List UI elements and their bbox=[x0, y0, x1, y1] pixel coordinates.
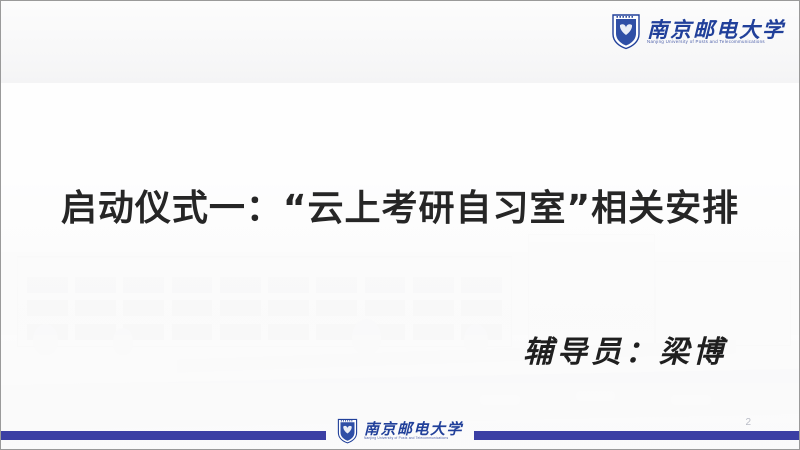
university-name-cn: 南京邮电大学 bbox=[364, 422, 463, 437]
shield-crest-icon bbox=[337, 418, 358, 444]
university-name-en: Nanjing University of Posts and Telecomm… bbox=[364, 437, 458, 440]
title-block: 启动仪式一：“云上考研自习室”相关安排 bbox=[1, 179, 799, 231]
presenter-block: 辅导员：梁博 bbox=[523, 327, 727, 371]
presenter-name: 辅导员：梁博 bbox=[523, 327, 727, 371]
university-logo-header: 南京邮电大学 Nanjing University of Posts and T… bbox=[611, 13, 785, 50]
footer-bar-left bbox=[1, 431, 326, 440]
shield-crest-icon bbox=[611, 13, 641, 50]
page-number: 2 bbox=[745, 417, 751, 428]
university-logo-footer: 南京邮电大学 Nanjing University of Posts and T… bbox=[337, 418, 463, 444]
university-logo-wordmark: 南京邮电大学 Nanjing University of Posts and T… bbox=[647, 19, 785, 45]
slide-title: 启动仪式一：“云上考研自习室”相关安排 bbox=[1, 179, 799, 231]
university-name-en: Nanjing University of Posts and Telecomm… bbox=[647, 40, 778, 45]
slide: 南京邮电大学 Nanjing University of Posts and T… bbox=[0, 0, 800, 450]
university-logo-wordmark: 南京邮电大学 Nanjing University of Posts and T… bbox=[364, 422, 463, 440]
slide-header: 南京邮电大学 Nanjing University of Posts and T… bbox=[1, 1, 799, 83]
footer-bar-right bbox=[474, 431, 799, 440]
slide-footer: 南京邮电大学 Nanjing University of Posts and T… bbox=[1, 407, 799, 449]
university-name-cn: 南京邮电大学 bbox=[647, 19, 785, 40]
